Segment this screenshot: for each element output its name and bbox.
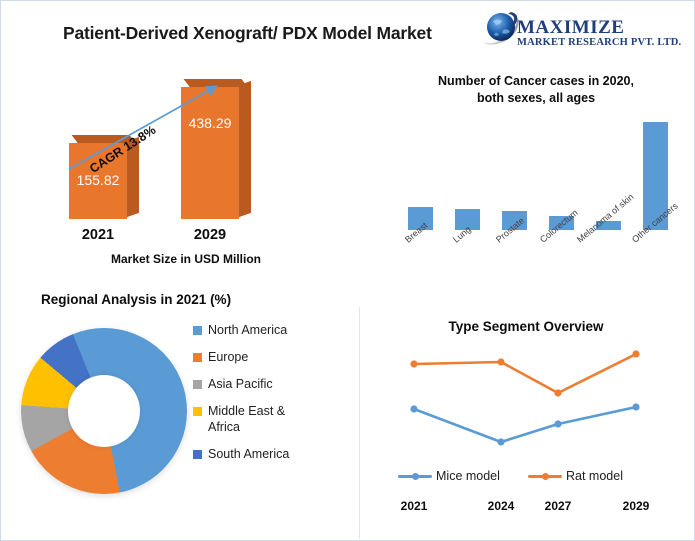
type-segment-axis-2027: 2027 — [535, 499, 581, 513]
legend-swatch-north-america — [193, 326, 202, 335]
type-segment-axis-2029: 2029 — [613, 499, 659, 513]
cancer-chart-title: Number of Cancer cases in 2020, both sex… — [381, 73, 691, 107]
series-point-mice-model-2029 — [632, 403, 639, 410]
header: Patient-Derived Xenograft/ PDX Model Mar… — [1, 1, 695, 65]
legend-swatch-asia-pacific — [193, 380, 202, 389]
bar-2029-side — [239, 81, 251, 217]
logo-name: MAXIMIZE — [517, 18, 681, 37]
legend-item-asia-pacific[interactable]: Asia Pacific — [193, 376, 333, 392]
series-point-rat-model-2024 — [497, 358, 504, 365]
series-point-mice-model-2021 — [410, 405, 417, 412]
logo-text: MAXIMIZE MARKET RESEARCH PVT. LTD. — [517, 18, 681, 49]
donut-chart — [21, 328, 187, 494]
series-point-rat-model-2027 — [554, 389, 561, 396]
donut-center-hole — [68, 375, 140, 447]
series-point-rat-model-2021 — [410, 360, 417, 367]
legend-item-south-america[interactable]: South America — [193, 446, 333, 462]
legend-label-europe: Europe — [208, 349, 248, 365]
legend-item-rat-model[interactable]: Rat model — [528, 469, 623, 483]
type-segment-axis-2024: 2024 — [478, 499, 524, 513]
legend-label-mice-model: Mice model — [436, 469, 500, 483]
legend-label-middle-east-africa: Middle East & Africa — [208, 403, 304, 435]
legend-item-mice-model[interactable]: Mice model — [398, 469, 500, 483]
type-segment-axis-2021: 2021 — [391, 499, 437, 513]
legend-swatch-south-america — [193, 450, 202, 459]
logo-tagline: MARKET RESEARCH PVT. LTD. — [517, 37, 681, 49]
legend-swatch-mice-model — [398, 475, 432, 478]
market-size-chart: 155.82 438.29 CAGR 13.8% 2021 2029 Marke… — [41, 67, 351, 277]
cancer-chart-title-line1: Number of Cancer cases in 2020, — [381, 73, 691, 90]
series-line-mice-model — [414, 407, 636, 442]
legend-label-south-america: South America — [208, 446, 289, 462]
regional-legend: North America Europe Asia Pacific Middle… — [193, 322, 333, 473]
regional-chart-title: Regional Analysis in 2021 (%) — [41, 292, 231, 307]
series-point-rat-model-2029 — [632, 350, 639, 357]
legend-label-rat-model: Rat model — [566, 469, 623, 483]
cancer-cases-chart: Number of Cancer cases in 2020, both sex… — [381, 73, 691, 278]
infographic-canvas: Patient-Derived Xenograft/ PDX Model Mar… — [0, 0, 695, 541]
cancer-label-melanoma-of-skin: Melanoma of skin — [575, 192, 635, 245]
company-logo: MAXIMIZE MARKET RESEARCH PVT. LTD. — [481, 5, 691, 57]
axis-label-2029: 2029 — [179, 227, 241, 243]
market-size-caption: Market Size in USD Million — [41, 252, 331, 266]
series-line-rat-model — [414, 354, 636, 393]
legend-swatch-middle-east-africa — [193, 407, 202, 416]
bar-2021-value: 155.82 — [69, 172, 127, 188]
legend-item-north-america[interactable]: North America — [193, 322, 333, 338]
type-segment-plot — [360, 341, 692, 463]
series-point-mice-model-2027 — [554, 420, 561, 427]
series-point-mice-model-2024 — [497, 438, 504, 445]
legend-swatch-europe — [193, 353, 202, 362]
legend-label-north-america: North America — [208, 322, 287, 338]
legend-item-middle-east-africa[interactable]: Middle East & Africa — [193, 403, 333, 435]
bar-shadow-2029 — [41, 73, 123, 79]
type-segment-chart: Type Segment Overview Mice model Rat mod… — [359, 307, 692, 539]
legend-item-europe[interactable]: Europe — [193, 349, 333, 365]
axis-label-2021: 2021 — [67, 227, 129, 243]
type-segment-title: Type Segment Overview — [360, 319, 692, 334]
regional-analysis-chart: Regional Analysis in 2021 (%) North Amer… — [11, 286, 341, 536]
cancer-chart-title-line2: both sexes, all ages — [381, 90, 691, 107]
page-title: Patient-Derived Xenograft/ PDX Model Mar… — [63, 23, 493, 44]
legend-label-asia-pacific: Asia Pacific — [208, 376, 273, 392]
legend-swatch-rat-model — [528, 475, 562, 478]
